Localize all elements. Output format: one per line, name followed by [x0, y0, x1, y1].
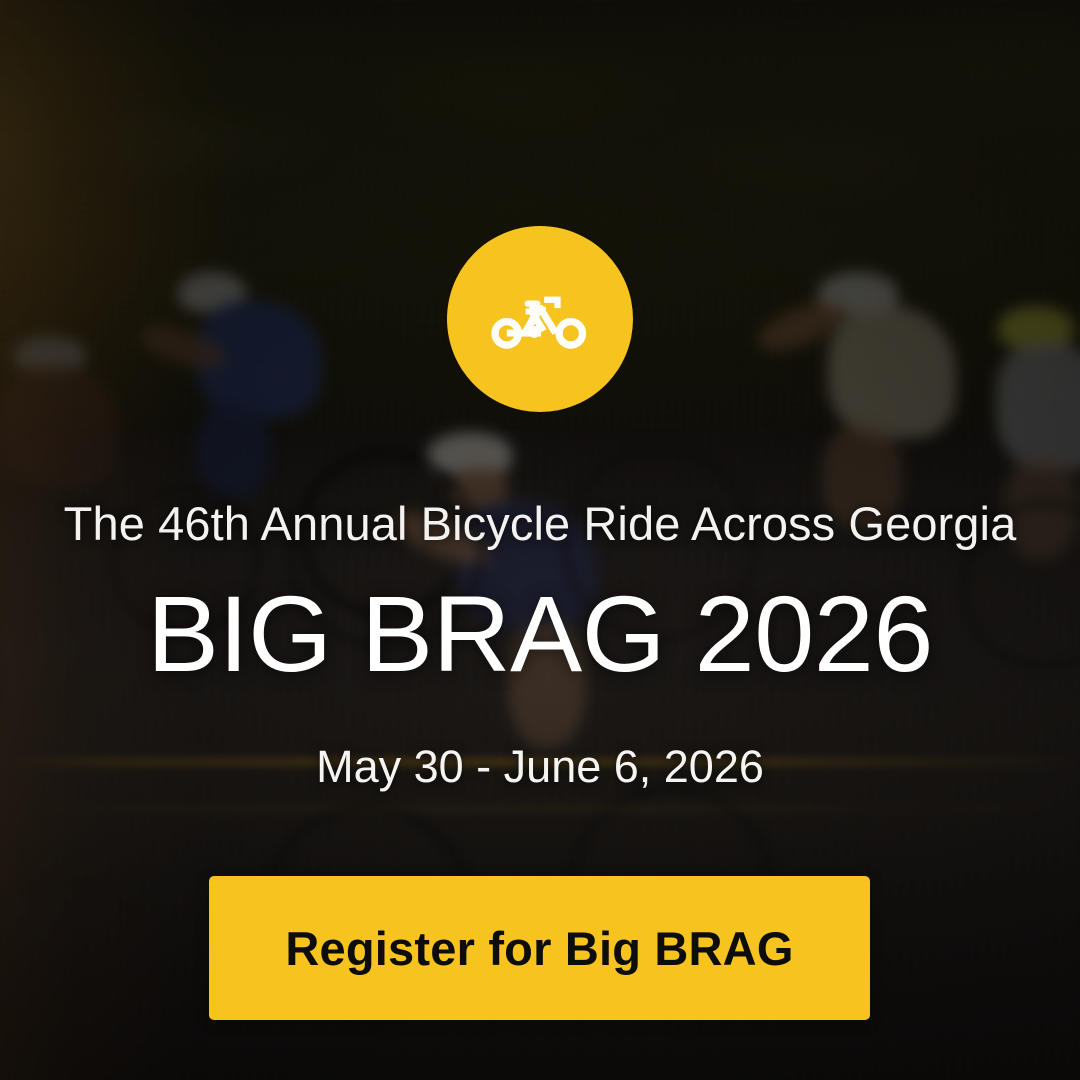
bicycle-icon [484, 263, 596, 375]
register-button[interactable]: Register for Big BRAG [209, 876, 870, 1020]
hero-content: The 46th Annual Bicycle Ride Across Geor… [0, 0, 1080, 1080]
event-dates: May 30 - June 6, 2026 [0, 741, 1080, 793]
page-title: BIG BRAG 2026 [0, 578, 1080, 690]
bicycle-badge [447, 226, 633, 412]
hero-banner: The 46th Annual Bicycle Ride Across Geor… [0, 0, 1080, 1080]
hero-eyebrow: The 46th Annual Bicycle Ride Across Geor… [0, 496, 1080, 551]
